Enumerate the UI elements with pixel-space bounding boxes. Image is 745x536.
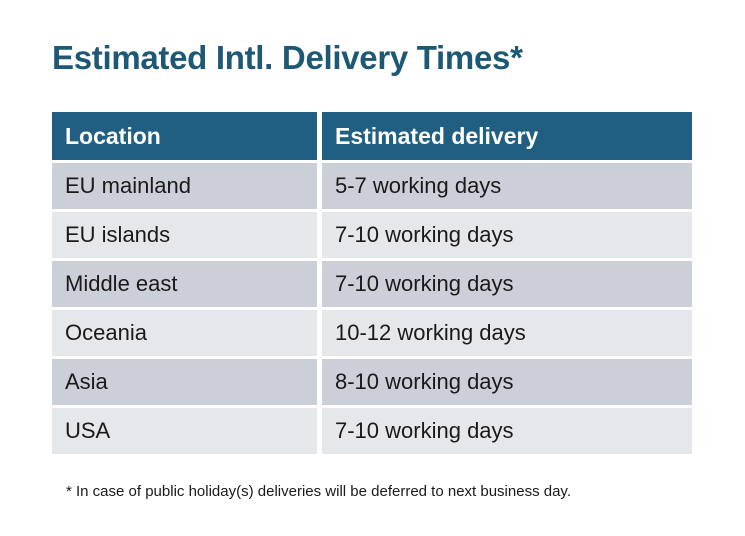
cell-estimated-delivery: 7-10 working days xyxy=(322,408,692,454)
page-title: Estimated Intl. Delivery Times* xyxy=(52,38,523,78)
column-header-location: Location xyxy=(52,112,317,160)
delivery-times-table: Location Estimated delivery EU mainland … xyxy=(52,112,692,457)
column-header-estimated-delivery: Estimated delivery xyxy=(322,112,692,160)
table-row: EU mainland 5-7 working days xyxy=(52,163,692,209)
cell-location: EU islands xyxy=(52,212,317,258)
cell-estimated-delivery: 10-12 working days xyxy=(322,310,692,356)
cell-location: Middle east xyxy=(52,261,317,307)
table-row: EU islands 7-10 working days xyxy=(52,212,692,258)
table-row: USA 7-10 working days xyxy=(52,408,692,454)
cell-estimated-delivery: 7-10 working days xyxy=(322,212,692,258)
cell-estimated-delivery: 5-7 working days xyxy=(322,163,692,209)
cell-estimated-delivery: 8-10 working days xyxy=(322,359,692,405)
table-row: Asia 8-10 working days xyxy=(52,359,692,405)
cell-location: USA xyxy=(52,408,317,454)
cell-estimated-delivery: 7-10 working days xyxy=(322,261,692,307)
cell-location: EU mainland xyxy=(52,163,317,209)
cell-location: Oceania xyxy=(52,310,317,356)
table-header-row: Location Estimated delivery xyxy=(52,112,692,160)
table-row: Middle east 7-10 working days xyxy=(52,261,692,307)
table-row: Oceania 10-12 working days xyxy=(52,310,692,356)
delivery-times-page: Estimated Intl. Delivery Times* Location… xyxy=(0,0,745,536)
footnote: * In case of public holiday(s) deliverie… xyxy=(66,482,571,502)
cell-location: Asia xyxy=(52,359,317,405)
